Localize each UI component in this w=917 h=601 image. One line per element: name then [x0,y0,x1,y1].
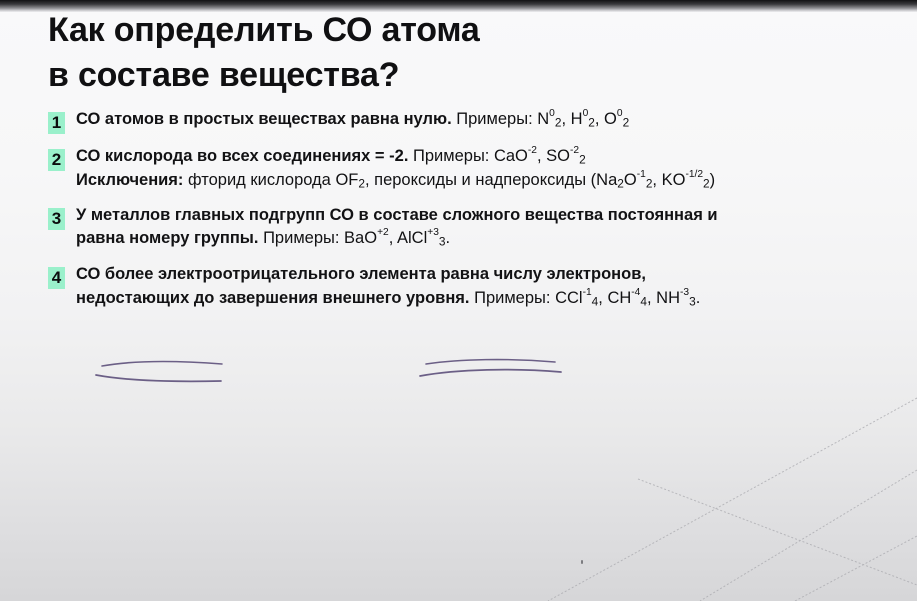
oxidation-state: -2 [570,145,579,156]
formula-index: 2 [579,153,586,167]
oxidation-state: -2 [528,145,537,156]
separator: , [561,110,570,128]
separator: , [652,171,661,189]
oxidation-state: +2 [377,227,389,238]
rule-number-badge: 4 [48,267,65,289]
formula-symbol: BaO [344,229,377,247]
title-line-2: в составе вещества? [48,53,868,98]
formula-symbol: NH [656,289,680,307]
formula-ko2: KO-1/22 [662,171,710,189]
period: . [696,289,701,307]
separator: , [537,147,546,165]
list-item: 2 СО кислорода во всех соединениях = -2.… [48,145,908,193]
examples-label: Примеры: [258,229,344,247]
rule-number-badge: 2 [48,149,65,171]
list-item: 1 СО атомов в простых веществах равна ну… [48,108,908,134]
rule-line-examples: равна номеру группы. Примеры: BaO+2, AlC… [76,227,908,251]
formula-h2: H02 [571,110,595,128]
rule-statement: СО кислорода во всех соединениях = -2. [76,147,408,165]
separator: , [389,229,397,247]
formula-symbol: N [537,110,549,128]
list-item: 3 У металлов главных подгрупп СО в соста… [48,204,908,252]
formula-symbol: CCl [555,289,583,307]
rule-statement: СО более электроотрицательного элемента … [76,265,646,283]
oxidation-state: -4 [631,287,640,298]
rule-line: СО более электроотрицательного элемента … [76,263,908,287]
formula-ch4: CH-44 [607,289,647,307]
formula-ccl4: CCl-14 [555,289,598,307]
annotation-underline-electronegative [100,358,225,370]
oxidation-state: -3 [680,287,689,298]
formula-index: 2 [617,176,624,190]
formula-index: 3 [689,294,696,308]
formula-index: 2 [358,176,365,190]
formula-alcl3: AlCl+33 [397,229,446,247]
rule-number-badge: 1 [48,112,65,134]
annotation-underline-missing [94,370,224,384]
rule-body: СО атомов в простых веществах равна нулю… [76,108,908,132]
oxidation-state: 0 [549,108,555,119]
separator: , [595,110,604,128]
oxidation-state: -1 [637,169,646,180]
oxidation-state: -1 [583,287,592,298]
rule-statement-cont: равна номеру группы. [76,229,258,247]
formula-index: 2 [703,176,710,190]
formula-index: 2 [623,116,630,130]
formula-so2: SO-22 [546,147,586,165]
rule-body: СО более электроотрицательного элемента … [76,263,908,311]
oxidation-state: 0 [617,108,623,119]
rule-number-badge: 3 [48,208,65,230]
formula-index: 3 [439,235,446,249]
rule-statement: СО атомов в простых веществах равна нулю… [76,110,452,128]
slide-canvas: Как определить СО атома в составе вещест… [0,0,917,601]
closing-paren: ) [710,171,716,189]
formula-symbol: H [571,110,583,128]
exceptions-text: фторид кислорода OF [183,171,358,189]
formula-nh3: NH-33 [656,289,696,307]
formula-n2: N02 [537,110,561,128]
formula-symbol-2: O [624,171,637,189]
separator: , [647,289,656,307]
formula-symbol: KO [662,171,686,189]
rule-line: У металлов главных подгрупп СО в составе… [76,204,908,228]
formula-index: 2 [588,116,595,130]
list-item: 4 СО более электроотрицательного элемент… [48,263,908,311]
title-line-1: Как определить СО атома [48,8,868,53]
formula-symbol: CaO [494,147,528,165]
exceptions-text-tail: , пероксиды и надпероксиды ( [365,171,596,189]
rule-body: СО кислорода во всех соединениях = -2. П… [76,145,908,193]
oxidation-state: +3 [427,227,439,238]
formula-symbol: Na [596,171,617,189]
formula-symbol: O [604,110,617,128]
page-title: Как определить СО атома в составе вещест… [48,8,868,98]
formula-o2: O02 [604,110,629,128]
rule-statement-cont: недостающих до завершения внешнего уровн… [76,289,470,307]
oxidation-state: 0 [583,108,589,119]
examples-label: Примеры: [408,147,494,165]
rule-statement: У металлов главных подгрупп СО в составе… [76,206,718,224]
formula-na2o2: Na2O-12 [596,171,652,189]
formula-index: 4 [640,294,647,308]
examples-label: Примеры: [452,110,538,128]
rule-line: СО кислорода во всех соединениях = -2. П… [76,145,908,169]
period: . [446,229,451,247]
formula-cao: CaO-2 [494,147,537,165]
rule-line-examples: недостающих до завершения внешнего уровн… [76,287,908,311]
examples-label: Примеры: [470,289,556,307]
formula-symbol: CH [607,289,631,307]
rule-line: СО атомов в простых веществах равна нулю… [76,108,908,132]
oxidation-state: -1/2 [685,169,703,180]
formula-symbol: SO [546,147,570,165]
rule-body: У металлов главных подгрупп СО в составе… [76,204,908,252]
formula-bao: BaO+2 [344,229,389,247]
annotation-underline-element [424,356,558,368]
rule-line-exceptions: Исключения: фторид кислорода OF2, перокс… [76,169,908,193]
formula-symbol: AlCl [397,229,427,247]
rules-list: 1 СО атомов в простых веществах равна ну… [48,108,908,322]
exceptions-label: Исключения: [76,171,183,189]
annotation-underline-outer-level [418,366,564,380]
grid-dot [581,560,583,564]
